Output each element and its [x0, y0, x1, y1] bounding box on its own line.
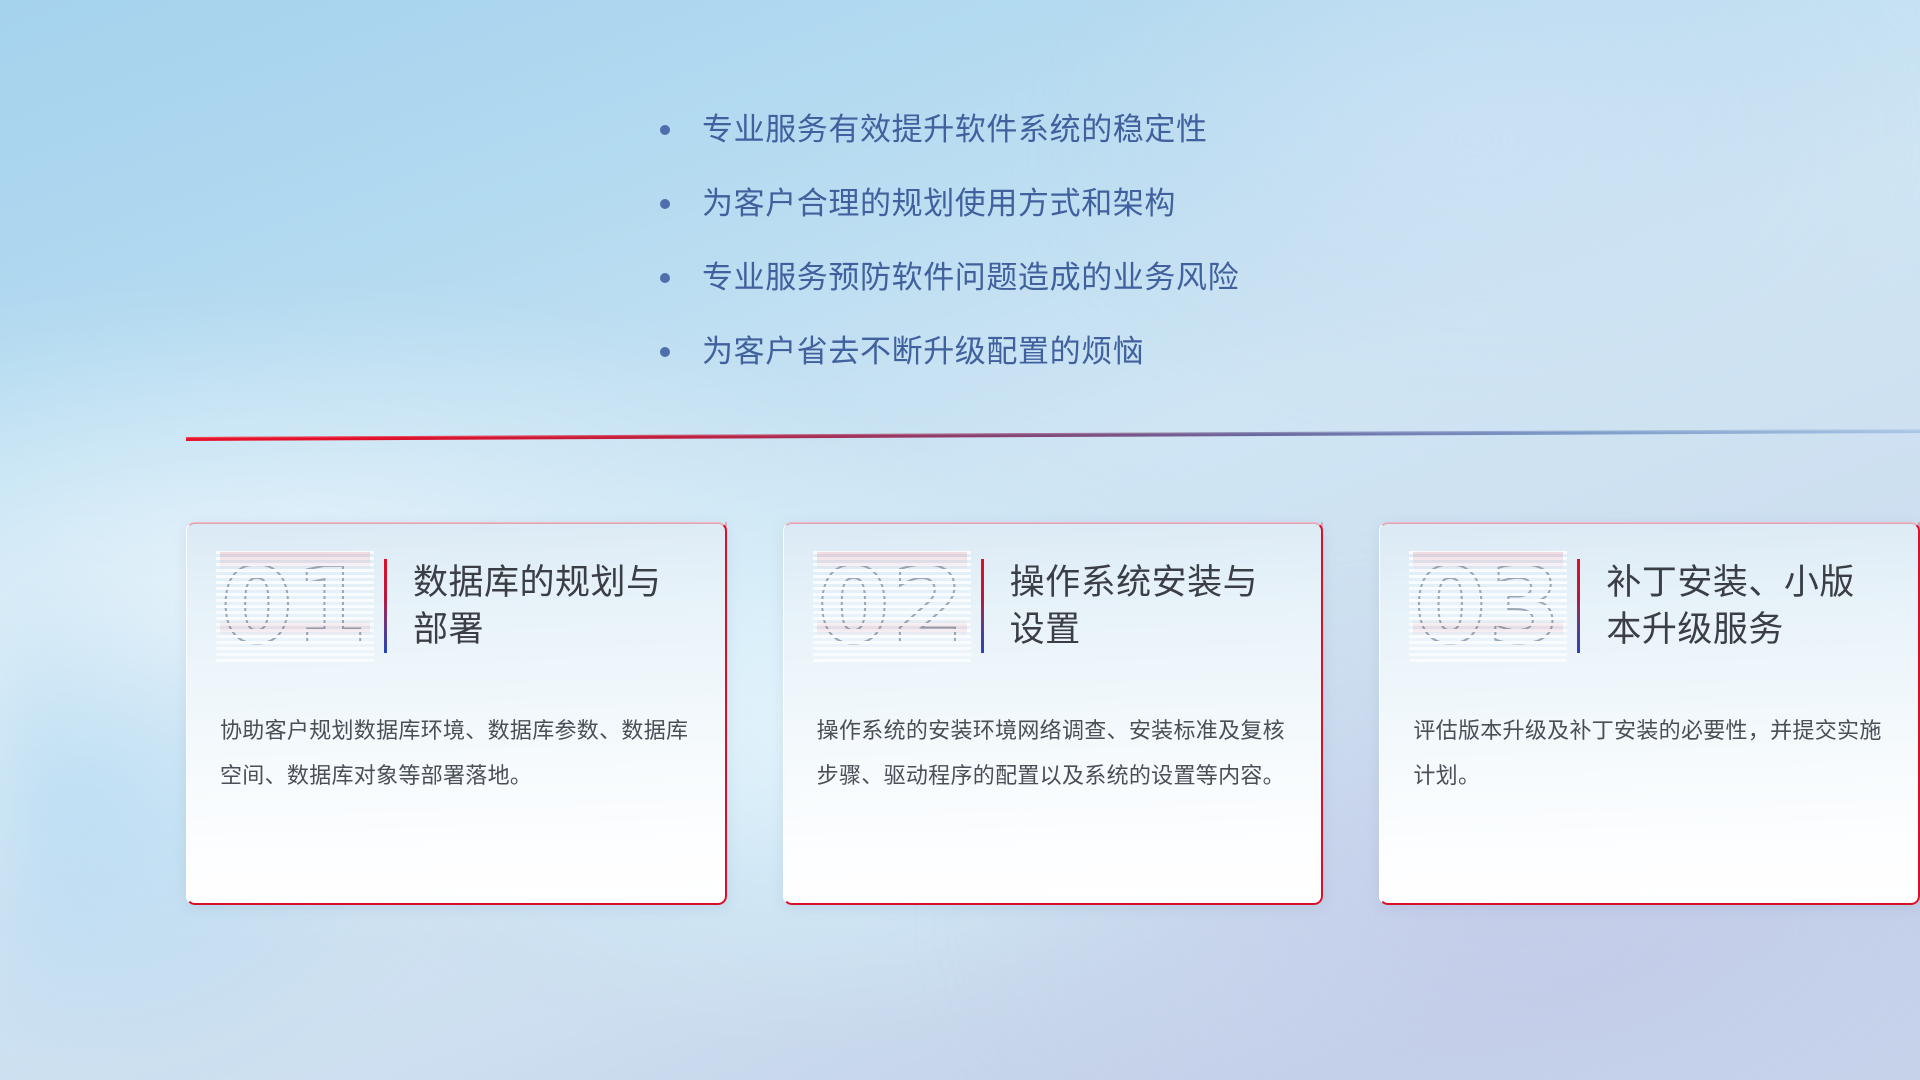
service-card-02[interactable]: 02 操作系统安装与设置 操作系统的安装环境网络调查、安装标准及复核步骤、驱动程…	[783, 522, 1324, 905]
list-item: 专业服务预防软件问题造成的业务风险	[660, 256, 1560, 300]
card-title: 数据库的规划与部署	[413, 559, 663, 653]
bullet-text: 专业服务有效提升软件系统的稳定性	[702, 108, 1208, 152]
card-header: 02 操作系统安装与设置	[783, 522, 1324, 690]
card-body-text: 操作系统的安装环境网络调查、安装标准及复核步骤、驱动程序的配置以及系统的设置等内…	[817, 708, 1290, 798]
benefit-bullet-list: 专业服务有效提升软件系统的稳定性 为客户合理的规划使用方式和架构 专业服务预防软…	[660, 108, 1560, 404]
bullet-dot-icon	[660, 199, 670, 209]
card-title-divider	[384, 559, 387, 653]
bullet-text: 为客户省去不断升级配置的烦恼	[702, 330, 1144, 374]
card-title-divider	[981, 559, 984, 653]
list-item: 专业服务有效提升软件系统的稳定性	[660, 108, 1560, 152]
card-number-text: 01	[220, 552, 370, 660]
card-header: 03 补丁安装、小版本升级服务	[1379, 522, 1920, 690]
card-number-text: 03	[1413, 552, 1563, 660]
card-number-badge: 01	[220, 552, 370, 660]
section-divider	[186, 422, 1920, 444]
list-item: 为客户省去不断升级配置的烦恼	[660, 330, 1560, 374]
card-number-text: 02	[817, 552, 967, 660]
bullet-text: 专业服务预防软件问题造成的业务风险	[702, 256, 1239, 300]
card-title: 操作系统安装与设置	[1010, 559, 1260, 653]
card-number-badge: 03	[1413, 552, 1563, 660]
card-header: 01 数据库的规划与部署	[186, 522, 727, 690]
service-card-list: 01 数据库的规划与部署 协助客户规划数据库环境、数据库参数、数据库空间、数据库…	[186, 522, 1920, 922]
bullet-text: 为客户合理的规划使用方式和架构	[702, 182, 1176, 226]
bullet-dot-icon	[660, 125, 670, 135]
tapered-rule-icon	[186, 422, 1920, 444]
bullet-dot-icon	[660, 347, 670, 357]
list-item: 为客户合理的规划使用方式和架构	[660, 182, 1560, 226]
service-card-01[interactable]: 01 数据库的规划与部署 协助客户规划数据库环境、数据库参数、数据库空间、数据库…	[186, 522, 727, 905]
card-number-badge: 02	[817, 552, 967, 660]
bullet-dot-icon	[660, 273, 670, 283]
card-title-divider	[1577, 559, 1580, 653]
service-card-03[interactable]: 03 补丁安装、小版本升级服务 评估版本升级及补丁安装的必要性，并提交实施计划。	[1379, 522, 1920, 905]
card-title: 补丁安装、小版本升级服务	[1606, 559, 1856, 653]
card-body-text: 协助客户规划数据库环境、数据库参数、数据库空间、数据库对象等部署落地。	[220, 708, 693, 798]
card-body-text: 评估版本升级及补丁安装的必要性，并提交实施计划。	[1413, 708, 1886, 798]
